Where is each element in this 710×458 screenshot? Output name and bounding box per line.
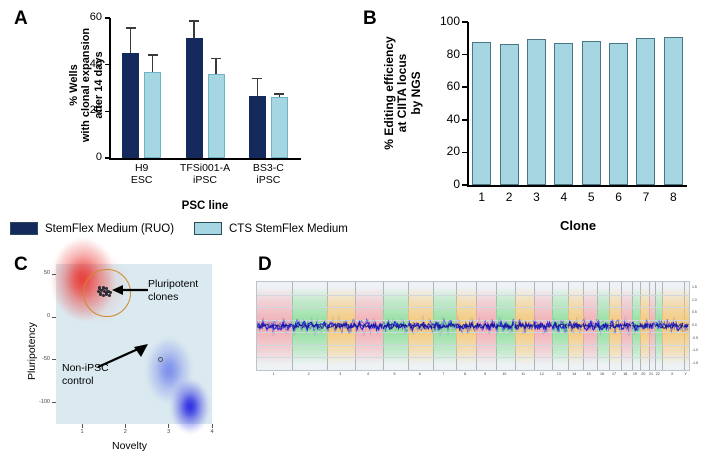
panel-b-category-label: 6 — [607, 191, 631, 204]
panel-d-chromosome-label: 9 — [478, 372, 492, 376]
panel-a: A % Wells with clonal expansion after 14… — [0, 0, 355, 250]
panel-c-x-axis-label: Novelty — [112, 440, 147, 452]
panel-a-y-axis-label: % Wells with clonal expansion after 14 d… — [68, 20, 105, 150]
panel-a-error-bar — [193, 20, 194, 38]
panel-d-right-axis-label: 1.5 — [692, 285, 697, 289]
panel-b-category-label: 1 — [470, 191, 494, 204]
arrow-pluripotent-clones — [112, 283, 150, 297]
panel-a-bar — [208, 74, 225, 158]
panel-b: B % Editing efficiency at CIITA locus by… — [355, 0, 710, 250]
panel-c-x-tick-label: 1 — [74, 429, 90, 435]
panel-b-bar — [527, 39, 546, 185]
cat-line-1: H9 — [135, 162, 148, 174]
annotation-non-ipsc-line-2: control — [62, 375, 94, 387]
panel-a-category-label: BS3-CiPSC — [232, 163, 304, 187]
panel-c-y-tick — [52, 274, 56, 275]
cat-line-2: ESC — [131, 174, 153, 186]
panel-c-y-tick-label: 0 — [32, 313, 50, 319]
panel-b-category-label: 4 — [552, 191, 576, 204]
panel-a-tick-mark — [105, 17, 110, 19]
panel-a-bar — [271, 97, 288, 158]
panel-d-chromosome-label: Y — [679, 372, 693, 376]
panel-a-error-bar — [130, 27, 131, 53]
panel-c-y-tick-label: -100 — [32, 399, 50, 405]
panel-d-copy-number-trace — [257, 282, 689, 370]
legend-item-stemflex-ruo: StemFlex Medium (RUO) — [10, 222, 185, 235]
panel-b-tick-mark — [462, 86, 468, 88]
panel-d-chromosome-label: 7 — [436, 372, 450, 376]
panel-c-x-tick — [168, 424, 169, 428]
panel-a-y-tick-label: 0 — [76, 151, 102, 163]
panel-b-bar — [472, 42, 491, 185]
panel-b-bar — [582, 41, 601, 185]
panel-b-y-axis — [467, 22, 469, 186]
panel-d-chromosome-separator — [689, 282, 690, 370]
panel-b-x-axis-label: Clone — [523, 218, 633, 233]
panel-d-right-axis-label: 1.0 — [692, 298, 697, 302]
annotation-pluripotent-clones: Pluripotent clones — [148, 278, 240, 304]
panel-d-chromosome-label: 10 — [497, 372, 511, 376]
panel-b-letter: B — [363, 8, 377, 30]
panel-d-right-axis-label: -1.0 — [692, 348, 698, 352]
panel-a-error-bar — [152, 54, 153, 72]
panel-b-tick-mark — [462, 54, 468, 56]
panel-b-tick-mark — [462, 152, 468, 154]
panel-b-category-label: 7 — [634, 191, 658, 204]
panel-a-error-cap — [189, 20, 199, 21]
panel-a-error-cap — [211, 58, 221, 59]
panel-b-category-label: 2 — [497, 191, 521, 204]
panel-d-chromosome-label: 12 — [535, 372, 549, 376]
panel-d-chromosome-label: 1 — [267, 372, 281, 376]
panel-b-category-label: 3 — [524, 191, 548, 204]
panel-b-y-tick-label: 20 — [430, 144, 460, 158]
panel-a-bar — [186, 38, 203, 158]
panel-c-x-tick — [82, 424, 83, 428]
panel-c-y-tick — [52, 317, 56, 318]
panel-b-bar — [664, 37, 683, 185]
panel-b-x-axis — [467, 185, 687, 187]
panel-b-y-tick-label: 0 — [430, 177, 460, 191]
panel-d-chromosome-label: 8 — [458, 372, 472, 376]
panel-a-error-cap — [274, 93, 284, 94]
panel-b-tick-mark — [462, 184, 468, 186]
cat-line-2: iPSC — [193, 174, 217, 186]
panel-b-bar — [500, 44, 519, 185]
panel-d-chromosome-label: X — [665, 372, 679, 376]
legend-swatch-cts-stemflex — [194, 222, 222, 235]
panel-b-ylabel-line-2: at CIITA locus — [395, 54, 409, 133]
arrow-non-ipsc-control — [96, 343, 150, 369]
panel-a-error-cap — [126, 27, 136, 28]
panel-d-chromosome-label: 11 — [516, 372, 530, 376]
panel-b-bar — [609, 43, 628, 185]
panel-b-bar — [554, 43, 573, 185]
panel-c-y-tick-label: 50 — [32, 270, 50, 276]
panel-d-plot-area — [256, 281, 690, 371]
panel-c-x-tick — [212, 424, 213, 428]
annotation-pluripotent-line-1: Pluripotent — [148, 278, 198, 290]
panel-d: D 12345678910111213141516171819202122XY … — [250, 250, 710, 458]
panel-a-ylabel-line-2: with clonal expansion — [80, 28, 92, 142]
panel-d-chromosome-label: 5 — [388, 372, 402, 376]
panel-d-right-axis-label: 0.0 — [692, 323, 697, 327]
panel-a-error-bar — [215, 58, 216, 74]
panel-d-right-axis-label: -1.5 — [692, 361, 698, 365]
panel-a-bar — [249, 96, 266, 158]
annotation-pluripotent-line-2: clones — [148, 291, 178, 303]
panel-c: C Pluripotency 500-50-100 1234 Pluripote… — [0, 250, 250, 458]
cat-line-1: BS3-C — [253, 162, 284, 174]
panel-c-x-tick-label: 2 — [117, 429, 133, 435]
panel-a-x-axis — [109, 158, 301, 160]
panel-c-y-tick-label: -50 — [32, 356, 50, 362]
panel-a-error-bar — [257, 78, 258, 97]
legend-item-cts-stemflex: CTS StemFlex Medium — [194, 222, 348, 235]
panel-a-letter: A — [14, 8, 28, 30]
panel-d-letter: D — [258, 254, 272, 276]
panel-a-tick-mark — [105, 157, 110, 159]
panel-b-y-tick-label: 80 — [430, 47, 460, 61]
panel-d-right-axis-label: -0.5 — [692, 336, 698, 340]
panel-d-right-axis-label: 0.5 — [692, 310, 697, 314]
cat-line-2: iPSC — [256, 174, 280, 186]
panel-d-chromosome-label: 4 — [361, 372, 375, 376]
panel-d-chromosome-label: 22 — [651, 372, 665, 376]
panel-a-y-tick-label: 20 — [76, 104, 102, 116]
panel-b-ylabel-line-1: % Editing efficiency — [382, 36, 396, 149]
panel-b-ylabel-line-3: by NGS — [409, 71, 423, 114]
panel-d-chromosome-label: 14 — [567, 372, 581, 376]
panel-d-chromosome-label: 13 — [552, 372, 566, 376]
panel-b-y-tick-label: 100 — [430, 14, 460, 28]
panel-b-tick-mark — [462, 21, 468, 23]
panel-b-bar — [636, 38, 655, 185]
panel-a-error-cap — [252, 78, 262, 79]
panel-a-y-tick-label: 40 — [76, 58, 102, 70]
panel-c-y-tick — [52, 359, 56, 360]
panel-a-bar — [122, 53, 139, 158]
panel-c-y-axis-label: Pluripotency — [26, 322, 38, 380]
panel-c-x-tick-label: 4 — [204, 429, 220, 435]
panel-d-chromosome-label: 3 — [333, 372, 347, 376]
panel-a-error-cap — [148, 54, 158, 55]
panel-a-category-label: H9ESC — [106, 163, 178, 187]
panel-c-x-tick — [125, 424, 126, 428]
cat-line-1: TFSi001-A — [180, 162, 230, 174]
panel-a-x-axis-label: PSC line — [150, 200, 260, 212]
panel-b-y-axis-label: % Editing efficiency at CIITA locus by N… — [383, 8, 423, 178]
panel-a-tick-mark — [105, 111, 110, 113]
panel-d-chromosome-label: 6 — [413, 372, 427, 376]
panel-c-letter: C — [14, 254, 28, 276]
panel-a-y-tick-label: 60 — [76, 11, 102, 23]
panel-a-y-axis — [109, 18, 111, 159]
panel-c-x-tick-label: 3 — [161, 429, 177, 435]
legend-label-stemflex-ruo: StemFlex Medium (RUO) — [45, 223, 174, 235]
panel-d-chromosome-label: 15 — [582, 372, 596, 376]
legend-swatch-stemflex-ruo — [10, 222, 38, 235]
panel-a-legend: StemFlex Medium (RUO) CTS StemFlex Mediu… — [10, 222, 350, 235]
panel-a-tick-mark — [105, 64, 110, 66]
panel-c-y-tick — [52, 402, 56, 403]
panel-a-bar — [144, 72, 161, 158]
panel-b-category-label: 8 — [661, 191, 685, 204]
panel-d-chromosome-label: 2 — [302, 372, 316, 376]
panel-b-category-label: 5 — [579, 191, 603, 204]
panel-b-y-tick-label: 60 — [430, 79, 460, 93]
panel-a-ylabel-line-1: % Wells — [68, 64, 80, 105]
panel-a-category-label: TFSi001-AiPSC — [169, 163, 241, 187]
panel-b-tick-mark — [462, 119, 468, 121]
panel-b-y-tick-label: 40 — [430, 112, 460, 126]
legend-label-cts-stemflex: CTS StemFlex Medium — [229, 223, 348, 235]
